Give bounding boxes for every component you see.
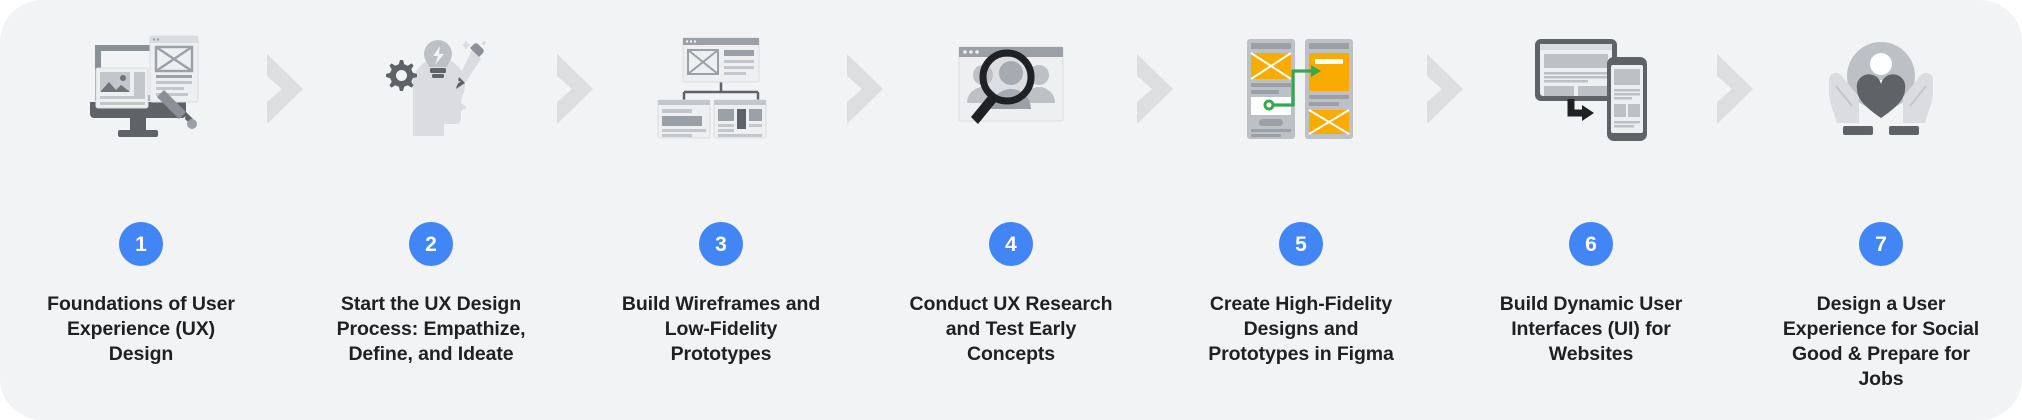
step-number-badge: 7 [1859,222,1903,266]
step-label: Create High-Fidelity Designs and Prototy… [1196,292,1406,367]
hands-holding-person-heart-icon [1806,14,1956,164]
step-label: Conduct UX Research and Test Early Conce… [906,292,1116,367]
chevron-right-icon [540,14,612,164]
step-number-badge: 5 [1279,222,1323,266]
sitemap-wireframes-icon [646,14,796,164]
responsive-desktop-mobile-icon [1516,14,1666,164]
step-label: Build Wireframes and Low-Fidelity Protot… [616,292,826,367]
step-5[interactable]: 5 Create High-Fidelity Designs and Proto… [1192,0,1410,367]
step-label: Foundations of User Experience (UX) Desi… [36,292,246,367]
step-label: Design a User Experience for Social Good… [1776,292,1986,392]
chevron-right-icon [830,14,902,164]
chevron-right-icon [1120,14,1192,164]
chevron-right-icon [250,14,322,164]
chevron-right-icon [1700,14,1772,164]
step-number-badge: 6 [1569,222,1613,266]
head-lightbulb-gear-pencil-icon [356,14,506,164]
two-screens-prototype-link-icon [1226,14,1376,164]
step-6[interactable]: 6 Build Dynamic User Interfaces (UI) for… [1482,0,1700,367]
step-label: Start the UX Design Process: Empathize, … [326,292,536,367]
step-3[interactable]: 3 Build Wireframes and Low-Fidelity Prot… [612,0,830,367]
step-number-badge: 4 [989,222,1033,266]
chevron-right-icon [1410,14,1482,164]
step-number-badge: 1 [119,222,163,266]
step-number-badge: 3 [699,222,743,266]
step-1[interactable]: 1 Foundations of User Experience (UX) De… [32,0,250,367]
step-4[interactable]: 4 Conduct UX Research and Test Early Con… [902,0,1120,367]
desktop-wireframe-pencil-icon [66,14,216,164]
step-2[interactable]: 2 Start the UX Design Process: Empathize… [322,0,540,367]
step-label: Build Dynamic User Interfaces (UI) for W… [1486,292,1696,367]
magnifier-users-research-icon [936,14,1086,164]
step-7[interactable]: 7 Design a User Experience for Social Go… [1772,0,1990,392]
course-path-card: 1 Foundations of User Experience (UX) De… [0,0,2022,420]
step-number-badge: 2 [409,222,453,266]
